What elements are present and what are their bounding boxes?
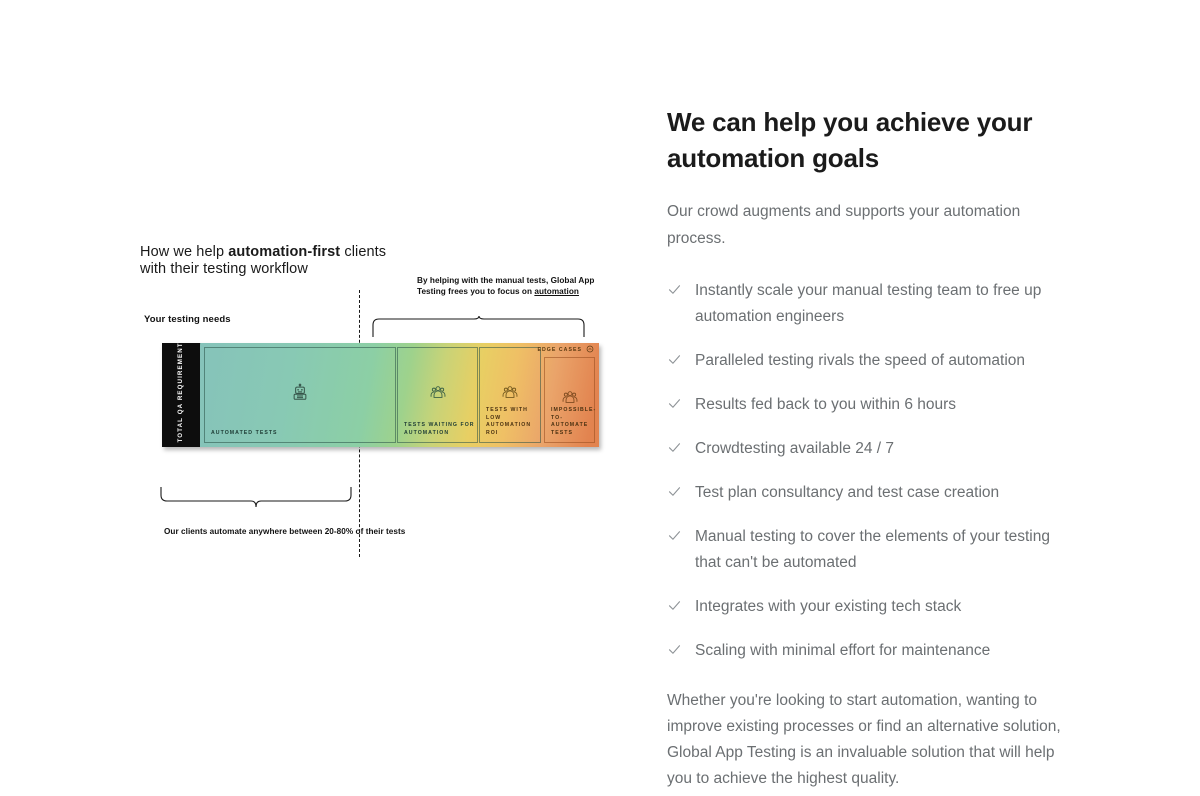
segment-label: IMPOSSIBLE-TO-AUTOMATE TESTS (551, 407, 596, 437)
clients-automate-range-label: Our clients automate anywhere between 20… (164, 526, 405, 537)
list-item-label: Test plan consultancy and test case crea… (695, 484, 999, 501)
edge-cases-tag: EDGE CASES (537, 345, 594, 355)
manual-tests-bracket (372, 316, 585, 338)
check-icon (667, 526, 682, 541)
segment-tests-with-low-automation-roi: TESTS WITH LOW AUTOMATION ROI (479, 347, 541, 443)
segment-label: AUTOMATED TESTS (211, 430, 278, 438)
segment-label: TESTS WITH LOW AUTOMATION ROI (486, 407, 540, 437)
check-icon (667, 394, 682, 409)
check-icon (667, 280, 682, 295)
list-item: Paralleled testing rivals the speed of a… (667, 348, 1077, 374)
infographic-callout-underlined: automation (534, 287, 579, 296)
list-item-label: Crowdtesting available 24 / 7 (695, 440, 894, 457)
list-item: Crowdtesting available 24 / 7 (667, 436, 1077, 462)
list-item-label: Instantly scale your manual testing team… (695, 282, 1041, 325)
robot-icon (291, 383, 310, 407)
edge-cases-label: EDGE CASES (537, 347, 582, 353)
check-icon (667, 350, 682, 365)
total-qa-requirements-label: TOTAL QA REQUIREMENTS (177, 348, 185, 443)
infographic-title-emphasis: automation-first (228, 244, 340, 260)
segment-label: TESTS WAITING FOR AUTOMATION (404, 422, 477, 437)
page-title: We can help you achieve your automation … (667, 104, 1077, 176)
crowd-icon (502, 384, 519, 406)
automation-workflow-infographic: How we help automation-first clients wit… (140, 244, 600, 564)
list-item: Instantly scale your manual testing team… (667, 278, 1077, 330)
check-icon (667, 596, 682, 611)
intro-paragraph: Our crowd augments and supports your aut… (667, 198, 1077, 252)
segment-automated-tests: AUTOMATED TESTS (204, 347, 396, 443)
list-item-label: Scaling with minimal effort for maintena… (695, 642, 990, 659)
automated-tests-bracket (160, 486, 352, 508)
qa-requirements-bar: TOTAL QA REQUIREMENTS AUTOMATED TESTS (162, 343, 599, 447)
list-item: Test plan consultancy and test case crea… (667, 480, 1077, 506)
list-item-label: Manual testing to cover the elements of … (695, 528, 1050, 571)
infographic-title-prefix: How we help (140, 244, 228, 260)
list-item: Scaling with minimal effort for maintena… (667, 638, 1077, 664)
content-column: We can help you achieve your automation … (667, 104, 1077, 792)
check-icon (667, 438, 682, 453)
check-icon (667, 482, 682, 497)
total-qa-requirements-axis: TOTAL QA REQUIREMENTS (162, 343, 200, 447)
segment-tests-waiting-for-automation: TESTS WAITING FOR AUTOMATION (397, 347, 478, 443)
check-icon (667, 640, 682, 655)
list-item: Integrates with your existing tech stack (667, 594, 1077, 620)
infographic-callout: By helping with the manual tests, Global… (417, 275, 602, 297)
list-item: Results fed back to you within 6 hours (667, 392, 1077, 418)
list-item-label: Results fed back to you within 6 hours (695, 396, 956, 413)
closing-paragraph: Whether you're looking to start automati… (667, 688, 1077, 792)
infographic-title: How we help automation-first clients wit… (140, 244, 390, 278)
your-testing-needs-label: Your testing needs (144, 314, 231, 325)
list-item-label: Paralleled testing rivals the speed of a… (695, 352, 1025, 369)
edge-case-bug-icon (586, 345, 594, 355)
list-item-label: Integrates with your existing tech stack (695, 598, 961, 615)
benefits-checklist: Instantly scale your manual testing team… (667, 278, 1077, 664)
segment-impossible-to-automate-tests: IMPOSSIBLE-TO-AUTOMATE TESTS (544, 357, 595, 443)
list-item: Manual testing to cover the elements of … (667, 524, 1077, 576)
crowd-icon (429, 384, 446, 406)
